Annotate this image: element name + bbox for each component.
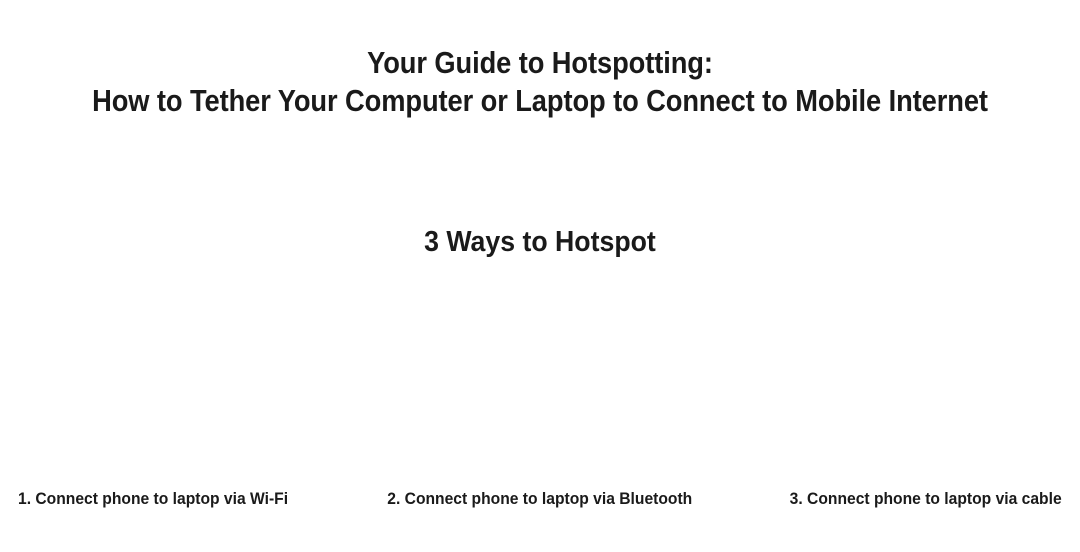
infographic-page: Your Guide to Hotspotting: How to Tether… (0, 0, 1080, 552)
method-captions-row: 1. Connect phone to laptop via Wi-Fi 2. … (0, 487, 1080, 513)
section-heading-label: 3 Ways to Hotspot (424, 222, 656, 262)
method-illustration-cable (720, 282, 1080, 480)
method-caption-wifi: 1. Connect phone to laptop via Wi-Fi (18, 487, 288, 510)
method-illustration-bluetooth (360, 282, 720, 480)
page-title-line-2: How to Tether Your Computer or Laptop to… (65, 82, 1015, 120)
method-caption-cable: 3. Connect phone to laptop via cable (790, 487, 1062, 510)
method-caption-cell-1: 1. Connect phone to laptop via Wi-Fi (0, 487, 366, 510)
page-title: Your Guide to Hotspotting: How to Tether… (0, 44, 1080, 120)
method-caption-cell-2: 2. Connect phone to laptop via Bluetooth (366, 487, 714, 510)
method-caption-bluetooth: 2. Connect phone to laptop via Bluetooth (388, 487, 693, 510)
section-heading: 3 Ways to Hotspot (0, 222, 1080, 262)
method-caption-cell-3: 3. Connect phone to laptop via cable (714, 487, 1080, 510)
page-title-line-1: Your Guide to Hotspotting: (65, 44, 1015, 82)
method-illustration-wifi (0, 282, 360, 480)
method-illustrations-row (0, 282, 1080, 480)
